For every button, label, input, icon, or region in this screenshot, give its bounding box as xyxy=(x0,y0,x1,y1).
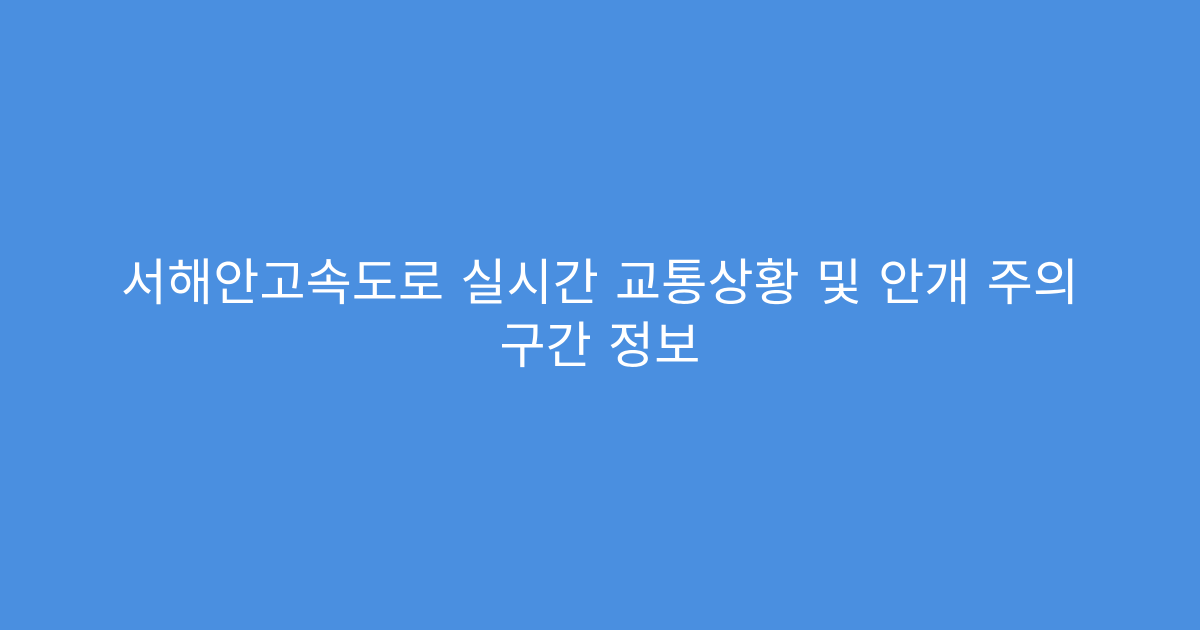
card-content: 서해안고속도로 실시간 교통상황 및 안개 주의 구간 정보 xyxy=(100,252,1100,378)
share-card: 서해안고속도로 실시간 교통상황 및 안개 주의 구간 정보 xyxy=(0,0,1200,630)
page-title: 서해안고속도로 실시간 교통상황 및 안개 주의 구간 정보 xyxy=(100,252,1100,378)
